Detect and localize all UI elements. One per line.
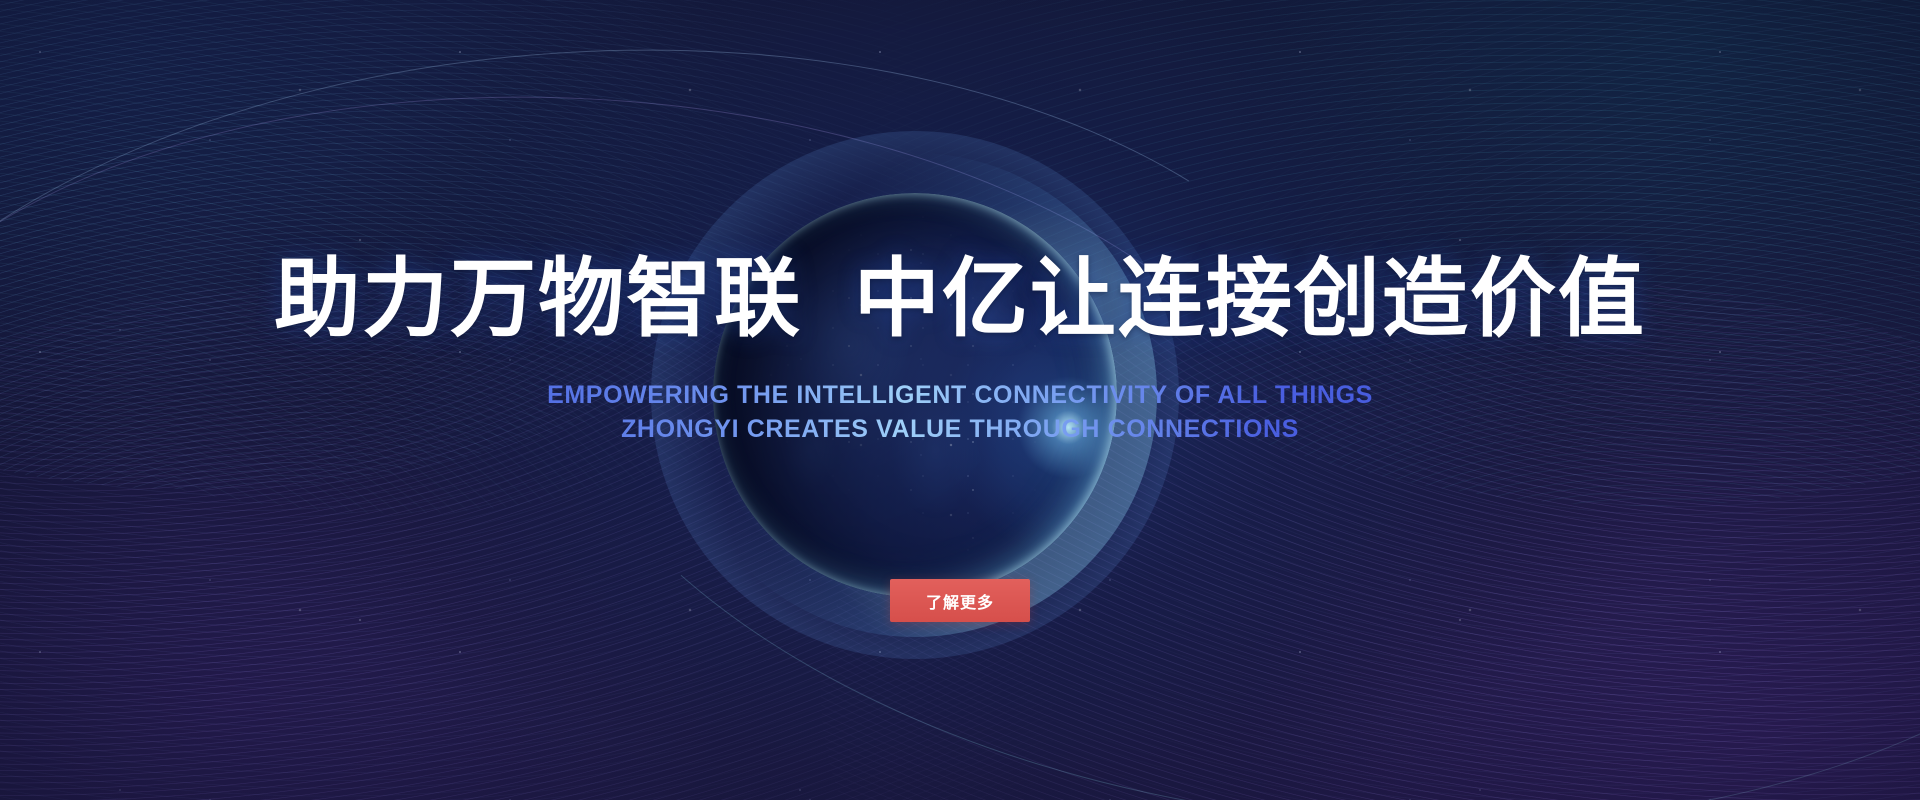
learn-more-button[interactable]: 了解更多 (890, 579, 1030, 622)
page-title: 助力万物智联 中亿让连接创造价值 (0, 256, 1920, 342)
hero-banner: 助力万物智联 中亿让连接创造价值 EMPOWERING THE INTELLIG… (0, 0, 1920, 800)
hero-subtitle-line-2: ZHONGYI CREATES VALUE THROUGH CONNECTION… (0, 412, 1920, 446)
hero-subtitle: EMPOWERING THE INTELLIGENT CONNECTIVITY … (0, 378, 1920, 446)
hero-subtitle-line-1: EMPOWERING THE INTELLIGENT CONNECTIVITY … (0, 378, 1920, 412)
hero-content: 助力万物智联 中亿让连接创造价值 EMPOWERING THE INTELLIG… (0, 0, 1920, 800)
